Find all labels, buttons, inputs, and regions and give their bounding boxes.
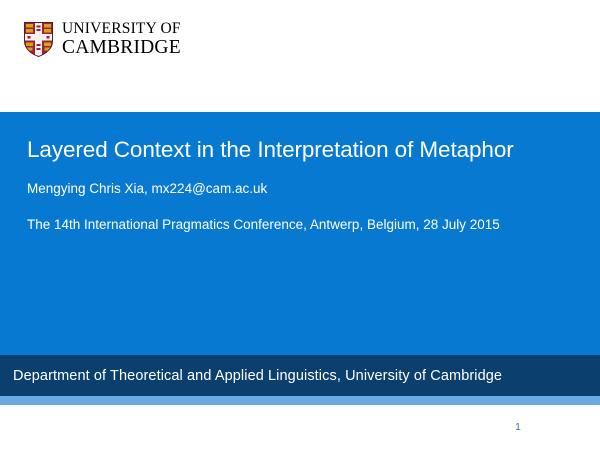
title-panel: Layered Context in the Interpretation of… [0,112,600,355]
page-number-area: 1 [0,405,600,450]
cambridge-crest-icon [24,22,53,57]
page-number: 1 [505,422,531,433]
conference-line: The 14th International Pragmatics Confer… [27,216,567,234]
university-wordmark: UNIVERSITY OF CAMBRIDGE [62,21,181,57]
department-label: Department of Theoretical and Applied Li… [0,368,502,384]
slide-title: Layered Context in the Interpretation of… [27,137,572,164]
wordmark-line-university-of: UNIVERSITY OF [62,21,181,37]
department-footer-bar: Department of Theoretical and Applied Li… [0,355,600,396]
wordmark-line-cambridge: CAMBRIDGE [62,38,181,58]
presentation-slide: UNIVERSITY OF CAMBRIDGE Layered Context … [0,0,600,450]
author-line: Mengying Chris Xia, mx224@cam.ac.uk [27,180,572,198]
slide-header: UNIVERSITY OF CAMBRIDGE [0,0,600,112]
accent-strip [0,396,600,405]
university-logo: UNIVERSITY OF CAMBRIDGE [24,21,181,57]
